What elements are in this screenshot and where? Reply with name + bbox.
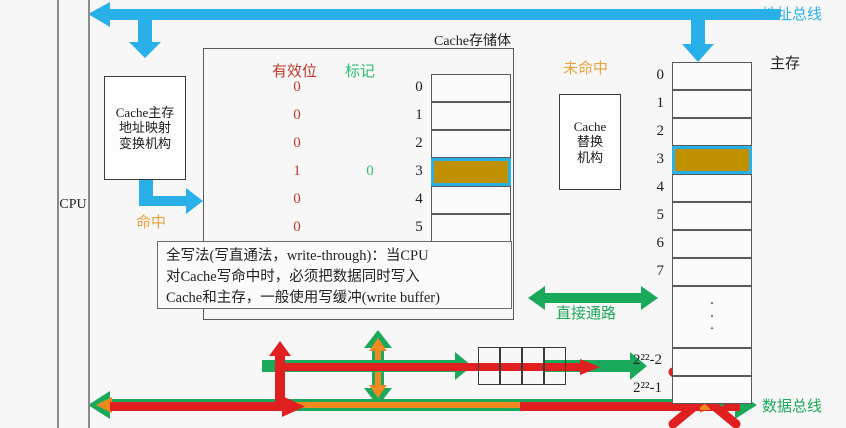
write-buffer-cell <box>500 347 522 385</box>
cache-valid-bit: 0 <box>285 219 309 236</box>
memory-row-index: 2 <box>642 123 664 140</box>
callout-line-1: 全写法(写直通法，write-through)：当CPU <box>166 246 503 267</box>
memory-data-cell <box>672 90 752 118</box>
cache-row-index: 1 <box>408 107 430 124</box>
address-bus-arrow <box>88 2 780 27</box>
memory-row-index: 6 <box>642 235 664 252</box>
cache-data-cell <box>431 214 511 242</box>
memory-data-cell <box>672 376 752 404</box>
write-buffer-cell <box>544 347 566 385</box>
hit-label: 命中 <box>136 211 166 232</box>
cache-data-cell <box>431 74 511 102</box>
cache-valid-bit: 1 <box>285 163 309 180</box>
direct-path-label: 直接通路 <box>556 302 616 323</box>
callout-line-3: Cache和主存，一般使用写缓冲(write buffer) <box>166 288 503 309</box>
write-buffer-cell <box>478 347 500 385</box>
main-memory-title: 主存 <box>770 52 800 73</box>
replace-line-2: 替换 <box>577 134 603 149</box>
memory-row-index: 4 <box>642 179 664 196</box>
cache-data-cell <box>431 130 511 158</box>
address-to-mapping-arrow <box>129 20 161 58</box>
memory-row-index: 1 <box>642 95 664 112</box>
cache-valid-bit: 0 <box>285 191 309 208</box>
hit-elbow-arrow <box>139 180 203 214</box>
memory-data-cell <box>672 62 752 90</box>
address-bus-label: 地址总线 <box>762 3 822 24</box>
cache-data-cell <box>431 158 511 186</box>
cache-storage-title: Cache存储体 <box>434 30 511 50</box>
cache-row-index: 4 <box>408 191 430 208</box>
replace-line-3: 机构 <box>577 150 603 165</box>
address-mapping-unit-label: Cache主存 地址映射 变换机构 <box>104 76 186 180</box>
memory-data-cell <box>672 258 752 286</box>
memory-row-index: 7 <box>642 263 664 280</box>
memory-row-index: 2²²-2 <box>616 352 662 369</box>
data-bus-label: 数据总线 <box>762 395 822 416</box>
cache-row-index: 0 <box>408 79 430 96</box>
cache-valid-bit: 0 <box>285 107 309 124</box>
cache-row-index: 5 <box>408 219 430 236</box>
cache-valid-bit: 0 <box>285 135 309 152</box>
cache-row-index: 3 <box>408 163 430 180</box>
mapping-line-1: Cache主存 <box>116 105 174 120</box>
memory-data-cell <box>672 348 752 376</box>
write-buffer-cell <box>522 347 544 385</box>
mapping-line-2: 地址映射 <box>119 120 171 135</box>
write-buffer <box>478 347 566 385</box>
memory-row-index: 2²²-1 <box>616 380 662 397</box>
cache-valid-bit: 0 <box>285 79 309 96</box>
miss-label: 未命中 <box>563 57 608 78</box>
address-to-memory-arrow <box>682 20 714 62</box>
callout-line-2: 对Cache写命中时，必须把数据同时写入 <box>166 267 503 288</box>
memory-data-cell <box>672 230 752 258</box>
write-through-callout: 全写法(写直通法，write-through)：当CPU 对Cache写命中时，… <box>157 241 512 309</box>
memory-row-index: 3 <box>642 151 664 168</box>
cache-data-cell <box>431 102 511 130</box>
cache-tag-value: 0 <box>358 163 382 180</box>
memory-data-cell <box>672 202 752 230</box>
cache-data-cell <box>431 186 511 214</box>
memory-data-cell <box>672 174 752 202</box>
memory-data-cell <box>672 146 752 174</box>
cache-row-index: 2 <box>408 135 430 152</box>
vertical-ellipsis-icon: ··· <box>710 298 715 336</box>
cache-replacement-unit-label: Cache 替换 机构 <box>559 94 621 190</box>
mapping-line-3: 变换机构 <box>119 136 171 151</box>
memory-row-index: 5 <box>642 207 664 224</box>
replace-line-1: Cache <box>574 119 606 134</box>
cpu-block: CPU <box>57 185 89 225</box>
memory-ellipsis-cell: ··· <box>672 286 752 348</box>
cache-row-list: 0001021030405 <box>203 74 514 244</box>
memory-row-index: 0 <box>642 67 664 84</box>
cpu-label: CPU <box>59 197 86 214</box>
memory-data-cell <box>672 118 752 146</box>
diagram-canvas: CPU 地址总线 数据总线 Cache主存 地址映射 变换机构 命中 Cache… <box>0 0 846 428</box>
